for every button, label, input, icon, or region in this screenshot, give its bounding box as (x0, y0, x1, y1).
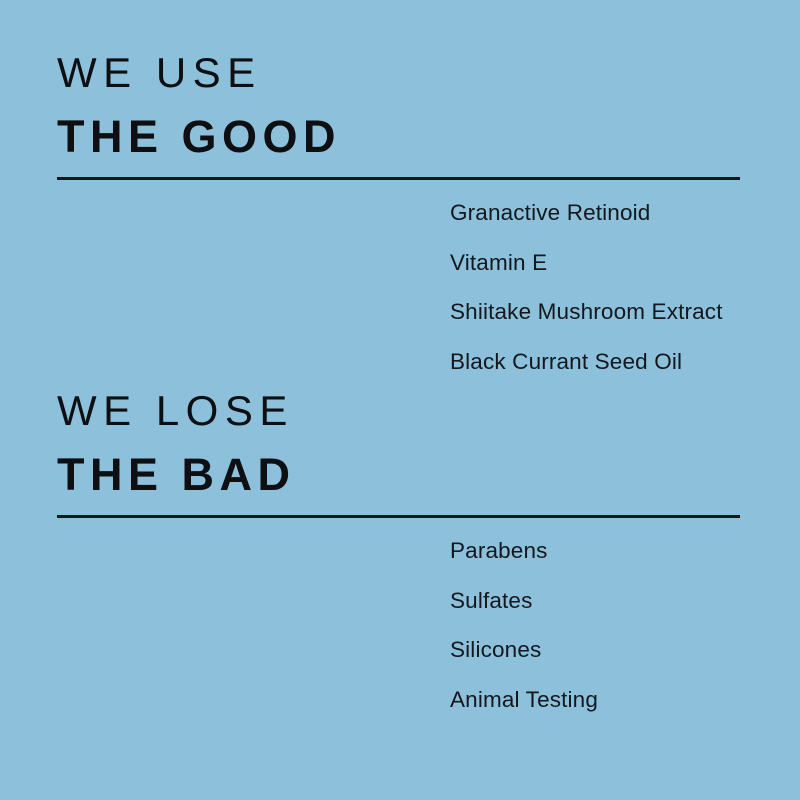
heading-the-bad: THE BAD (57, 452, 800, 497)
section-the-bad: WE LOSE THE BAD Parabens Sulfates Silico… (0, 390, 800, 711)
heading-group-the-good: WE USE THE GOOD (0, 52, 800, 180)
list-item: Sulfates (450, 590, 800, 613)
section-the-good: WE USE THE GOOD Granactive Retinoid Vita… (0, 52, 800, 373)
list-item: Silicones (450, 639, 800, 662)
list-item: Shiitake Mushroom Extract (450, 301, 800, 324)
list-item: Black Currant Seed Oil (450, 351, 800, 374)
list-item: Granactive Retinoid (450, 202, 800, 225)
list-item: Parabens (450, 540, 800, 563)
heading-the-good: THE GOOD (57, 114, 800, 159)
heading-we-use: WE USE (57, 52, 800, 94)
divider-rule-good (57, 177, 740, 180)
divider-rule-bad (57, 515, 740, 518)
ingredient-claims-poster: WE USE THE GOOD Granactive Retinoid Vita… (0, 0, 800, 800)
bad-ingredient-list: Parabens Sulfates Silicones Animal Testi… (0, 518, 800, 711)
list-item: Vitamin E (450, 252, 800, 275)
heading-group-the-bad: WE LOSE THE BAD (0, 390, 800, 518)
list-item: Animal Testing (450, 689, 800, 712)
good-ingredient-list: Granactive Retinoid Vitamin E Shiitake M… (0, 180, 800, 373)
heading-we-lose: WE LOSE (57, 390, 800, 432)
